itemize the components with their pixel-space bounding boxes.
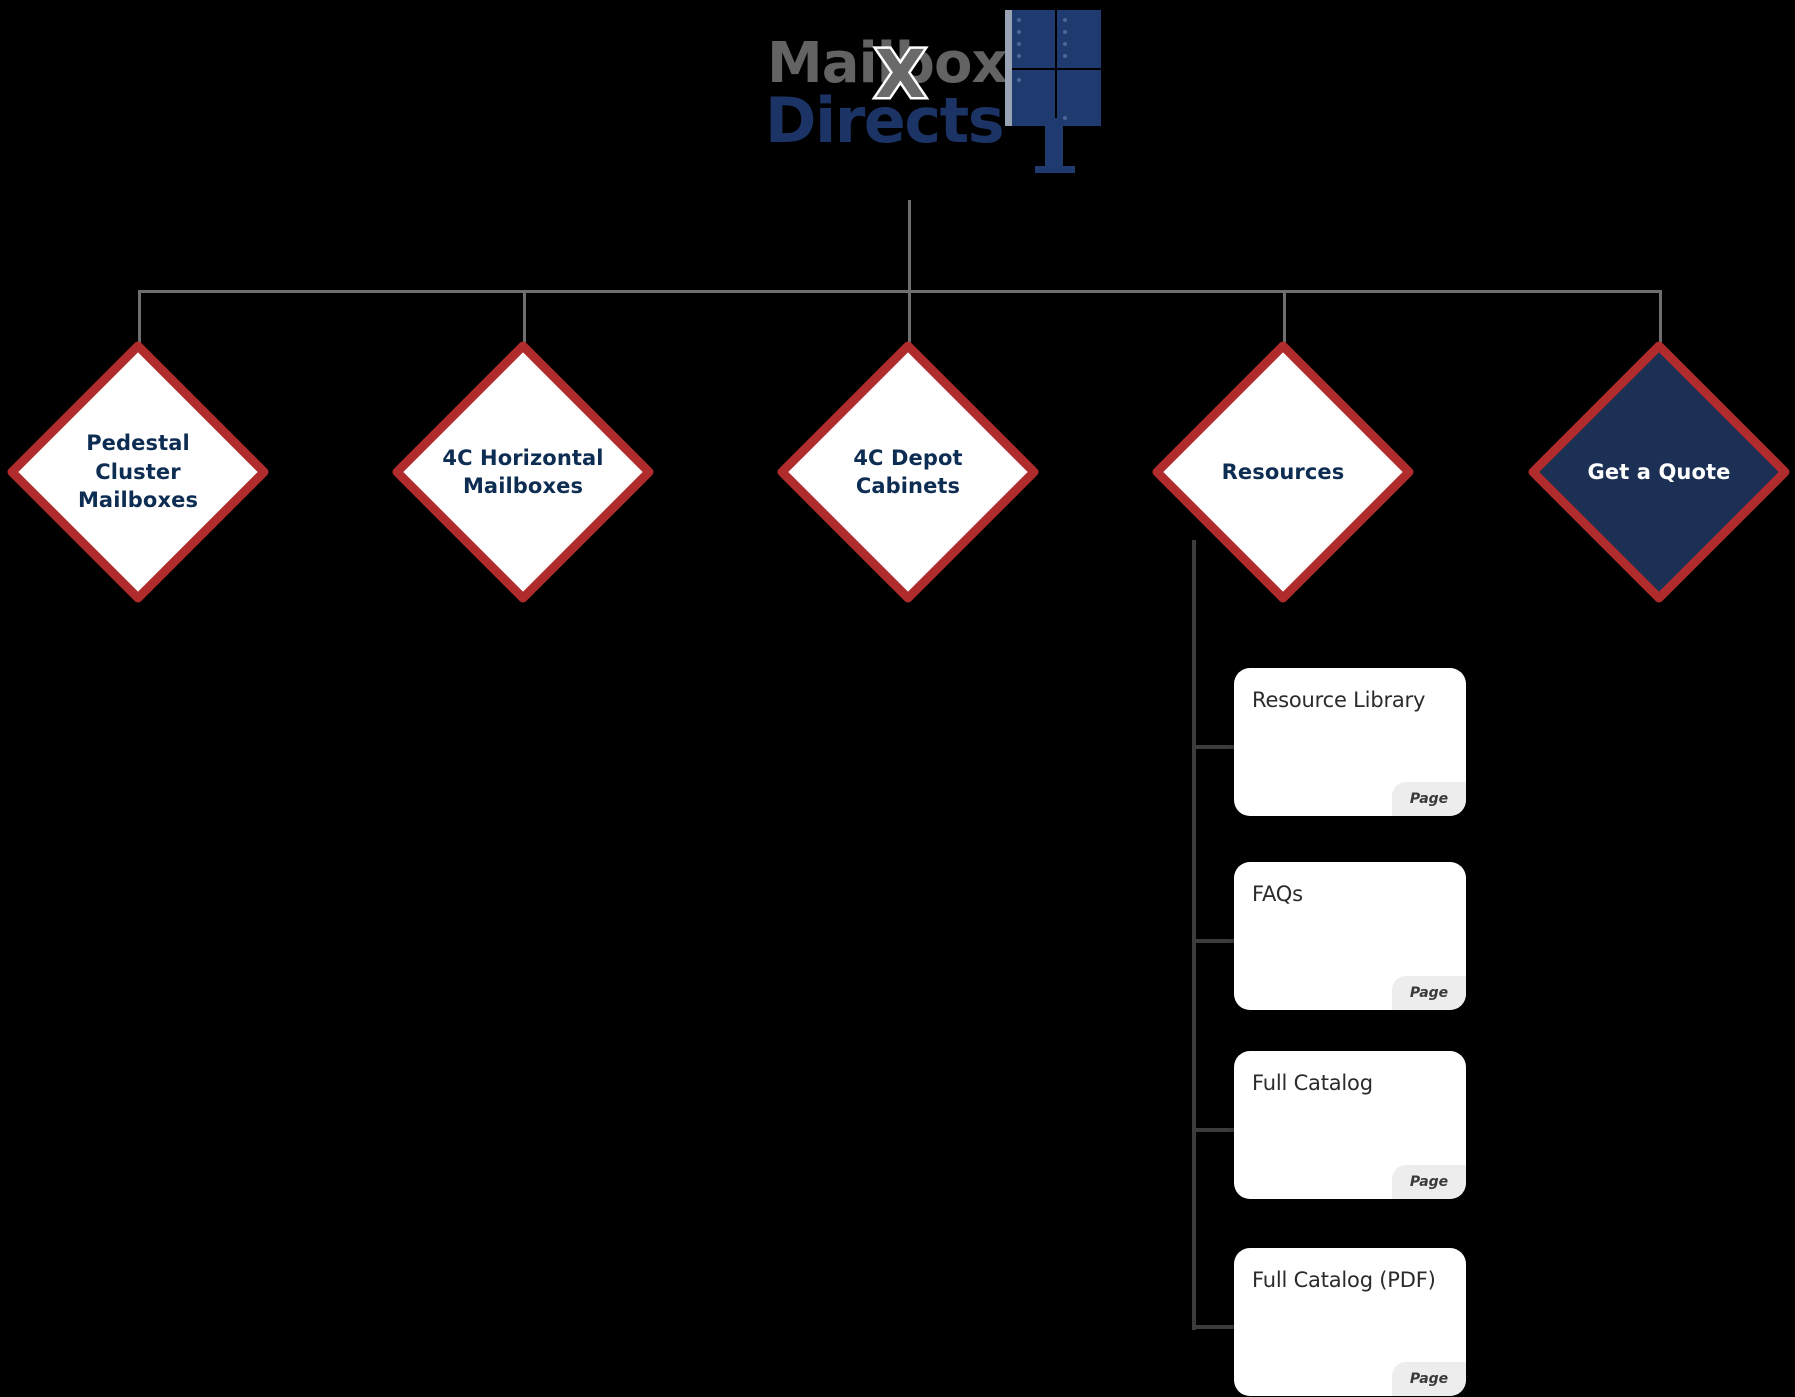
page-card-type-tag: Page: [1392, 1165, 1466, 1199]
page-card-title: Full Catalog (PDF): [1252, 1268, 1454, 1293]
page-card-title: FAQs: [1252, 882, 1454, 907]
logo-x-overlay: X: [875, 42, 926, 108]
node-label-line2: Mailboxes: [463, 474, 583, 498]
node-4c-depot-cabinets[interactable]: 4C Depot Cabinets: [772, 336, 1044, 608]
connector-resources-branch-4: [1192, 1325, 1234, 1329]
node-pedestal-cluster-mailboxes[interactable]: Pedestal Cluster Mailboxes: [2, 336, 274, 608]
node-label: 4C Depot Cabinets: [798, 444, 1018, 501]
node-label: Resources: [1193, 458, 1373, 486]
site-logo[interactable]: Mailbox X Directs: [755, 8, 1125, 168]
page-card-resource-library[interactable]: Resource Library Page: [1234, 668, 1466, 816]
node-label-line1: 4C Depot Cabinets: [853, 446, 962, 498]
node-label: Pedestal Cluster Mailboxes: [48, 429, 228, 514]
page-card-type-tag: Page: [1392, 782, 1466, 816]
connector-resources-spine: [1192, 540, 1196, 1330]
page-card-type-label: Page: [1410, 791, 1448, 807]
page-card-full-catalog-pdf[interactable]: Full Catalog (PDF) Page: [1234, 1248, 1466, 1396]
connector-resources-branch-2: [1192, 939, 1234, 943]
page-card-type-label: Page: [1410, 985, 1448, 1001]
node-label: Get a Quote: [1569, 458, 1749, 486]
page-card-type-tag: Page: [1392, 1362, 1466, 1396]
page-card-type-label: Page: [1410, 1174, 1448, 1190]
sitemap-canvas: Mailbox X Directs: [0, 0, 1795, 1397]
node-label-line2: Mailboxes: [78, 488, 198, 512]
page-card-type-tag: Page: [1392, 976, 1466, 1010]
node-label-line1: Get a Quote: [1588, 460, 1731, 484]
pedestal-mailbox-icon: [985, 8, 1115, 173]
page-card-type-label: Page: [1410, 1371, 1448, 1387]
node-label-line1: Pedestal Cluster: [86, 431, 190, 483]
node-4c-horizontal-mailboxes[interactable]: 4C Horizontal Mailboxes: [387, 336, 659, 608]
page-card-full-catalog[interactable]: Full Catalog Page: [1234, 1051, 1466, 1199]
connector-root-stem: [908, 200, 911, 292]
connector-root-bar: [138, 290, 1662, 293]
page-card-title: Full Catalog: [1252, 1071, 1454, 1096]
connector-resources-branch-1: [1192, 745, 1234, 749]
node-label-line1: Resources: [1222, 460, 1345, 484]
node-label: 4C Horizontal Mailboxes: [433, 444, 613, 501]
node-label-line1: 4C Horizontal: [442, 446, 603, 470]
page-card-title: Resource Library: [1252, 688, 1454, 713]
node-resources[interactable]: Resources: [1147, 336, 1419, 608]
connector-resources-branch-3: [1192, 1128, 1234, 1132]
node-get-a-quote[interactable]: Get a Quote: [1523, 336, 1795, 608]
page-card-faqs[interactable]: FAQs Page: [1234, 862, 1466, 1010]
